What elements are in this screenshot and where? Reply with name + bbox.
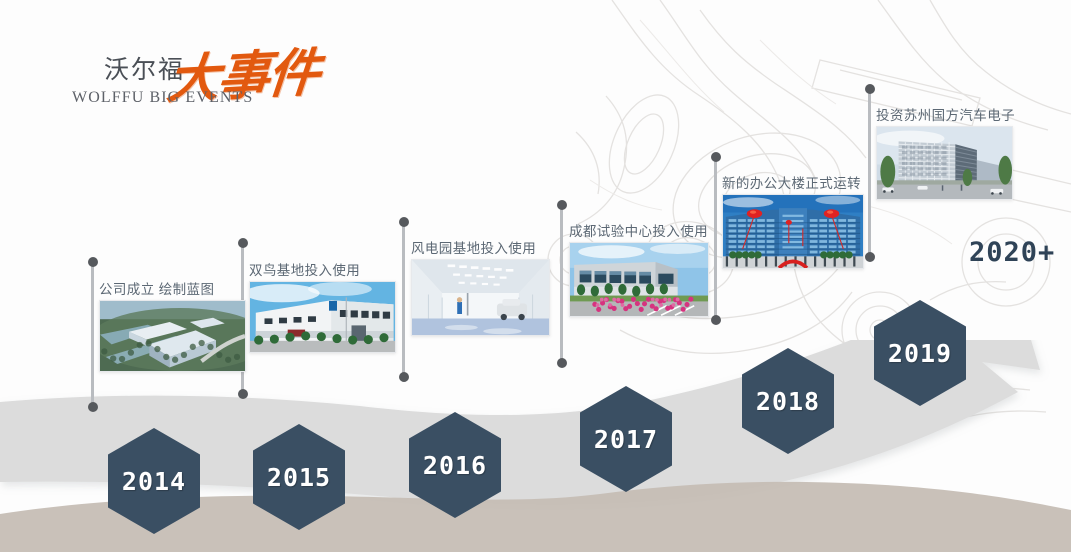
brand-title: 沃尔福 大事件 WOLFFU BIG EVENTS [72,46,372,118]
connector-dot-top-2016 [399,217,409,227]
connector-dot-bottom-2018 [711,315,721,325]
year-label-2019: 2019 [874,300,966,406]
year-marker-2015[interactable]: 2015 [253,424,345,530]
milestone-caption-2015: 双鸟基地投入使用 [249,259,360,279]
year-marker-2018[interactable]: 2018 [742,348,834,454]
milestone-photo-2017[interactable] [569,242,709,317]
connector-dot-top-2017 [557,200,567,210]
year-marker-2014[interactable]: 2014 [108,428,200,534]
timeline-infographic: 公司成立 绘制蓝图 双鸟基地投入使用 [0,0,1071,552]
year-marker-2017[interactable]: 2017 [580,386,672,492]
connector-line-2017 [560,205,563,363]
future-year-label: 2020+ [969,237,1055,268]
milestone-photo-2016[interactable] [411,259,550,336]
milestone-photo-2018[interactable] [722,194,864,269]
connector-dot-bottom-2015 [238,389,248,399]
connector-dot-top-2019 [865,84,875,94]
milestone-caption-2017: 成都试验中心投入使用 [569,220,708,240]
year-label-2016: 2016 [409,412,501,518]
year-label-2017: 2017 [580,386,672,492]
connector-dot-top-2014 [88,257,98,267]
connector-line-2016 [402,222,405,377]
brand-english-subtitle: WOLFFU BIG EVENTS [72,89,253,107]
connector-dot-bottom-2016 [399,372,409,382]
connector-dot-bottom-2017 [557,358,567,368]
connector-dot-top-2018 [711,152,721,162]
milestone-photo-2014[interactable] [99,300,246,372]
year-label-2018: 2018 [742,348,834,454]
milestone-caption-2019: 投资苏州国方汽车电子 [876,104,1015,124]
connector-dot-bottom-2014 [88,402,98,412]
year-label-2014: 2014 [108,428,200,534]
year-marker-2019[interactable]: 2019 [874,300,966,406]
year-label-2015: 2015 [253,424,345,530]
connector-dot-top-2015 [238,238,248,248]
milestone-photo-2015[interactable] [249,281,396,353]
milestone-caption-2016: 风电园基地投入使用 [411,237,536,257]
connector-line-2018 [714,157,717,320]
connector-line-2019 [868,89,871,257]
milestone-caption-2018: 新的办公大楼正式运转 [722,172,861,192]
connector-line-2014 [91,262,94,407]
year-marker-2016[interactable]: 2016 [409,412,501,518]
milestone-caption-2014: 公司成立 绘制蓝图 [99,278,214,298]
milestone-photo-2019[interactable] [876,126,1013,200]
connector-dot-bottom-2019 [865,252,875,262]
